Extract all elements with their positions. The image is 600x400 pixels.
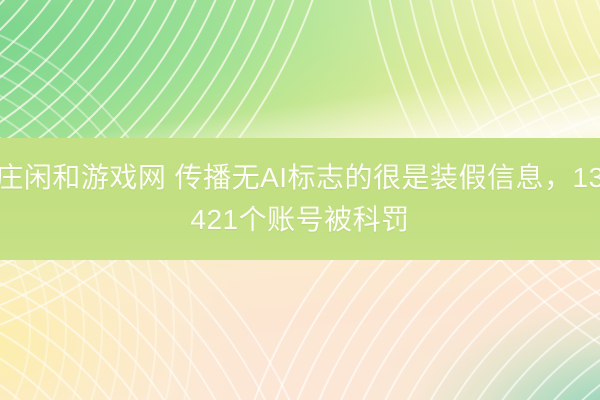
headline-text: 庄闲和游戏网 传播无AI标志的很是装假信息，13 421个账号被科罚 [0,138,600,260]
headline-line-2: 421个账号被科罚 [190,199,409,241]
promo-banner: 庄闲和游戏网 传播无AI标志的很是装假信息，13 421个账号被科罚 [0,0,600,400]
headline-line-1: 庄闲和游戏网 传播无AI标志的很是装假信息，13 [0,157,600,199]
